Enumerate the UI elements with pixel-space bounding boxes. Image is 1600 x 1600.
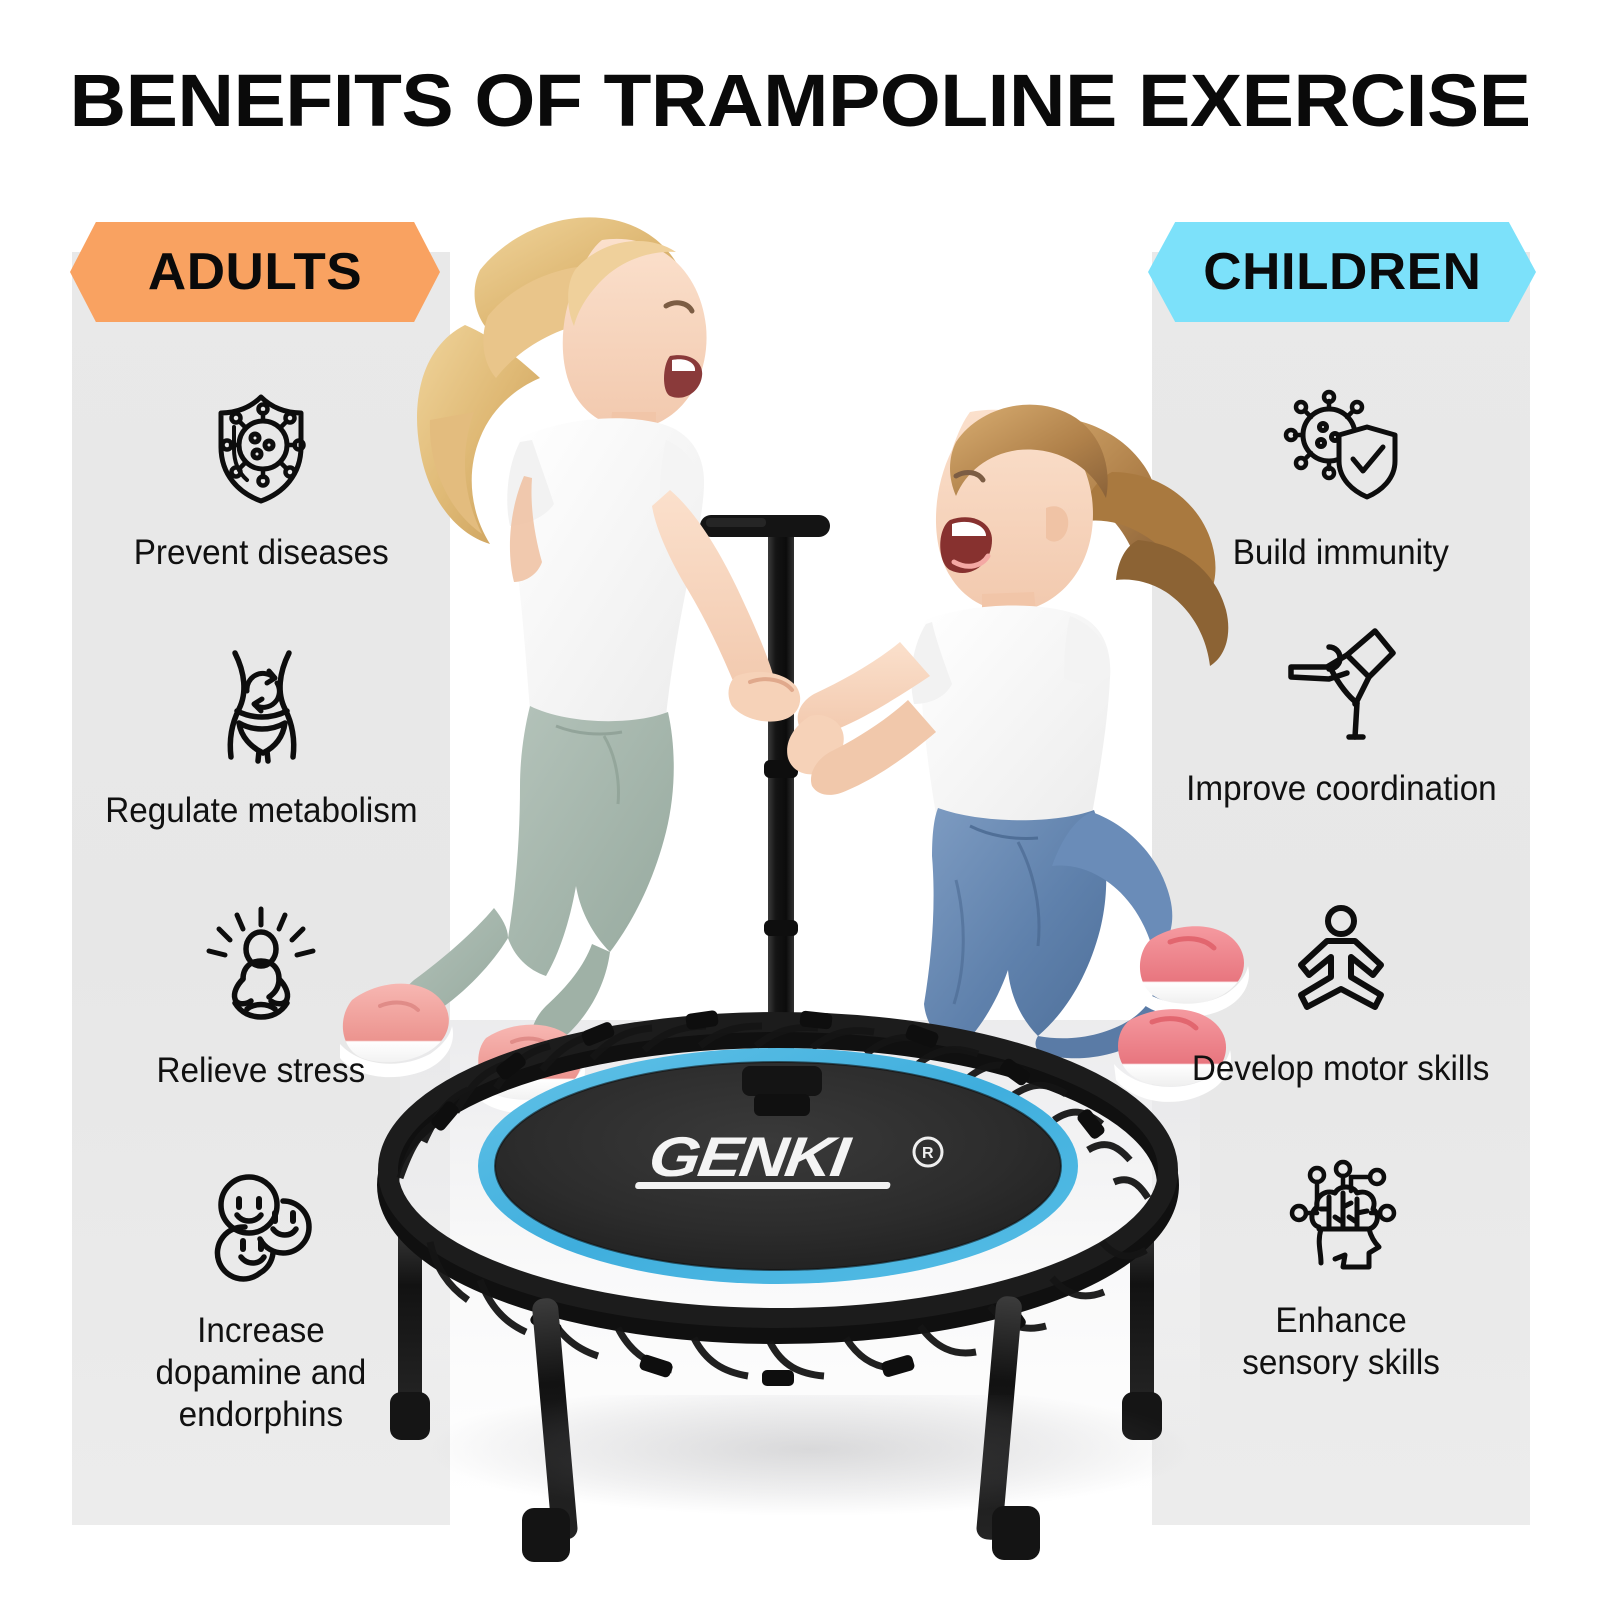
yoga-balance-icon [1266, 608, 1416, 758]
adults-banner: ADULTS [70, 222, 440, 322]
benefit-item-improve-coordination: Improve coordination [1152, 608, 1530, 810]
smiley-faces-icon [186, 1150, 336, 1300]
virus-shield-check-icon [1266, 372, 1416, 522]
svg-text:GENKI: GENKI [645, 1126, 856, 1189]
adults-banner-label: ADULTS [148, 242, 362, 302]
meditation-icon [186, 890, 336, 1040]
benefit-item-relieve-stress: Relieve stress [72, 890, 450, 1092]
benefit-label: Develop motor skills [1192, 1048, 1489, 1090]
benefit-item-build-immunity: Build immunity [1152, 372, 1530, 574]
infographic-canvas: BENEFITS OF TRAMPOLINE EXERCISE [0, 0, 1600, 1600]
benefit-item-increase-dopamine: Increase dopamine and endorphins [72, 1150, 450, 1436]
torso-recycle-icon [186, 630, 336, 780]
benefit-label: Build immunity [1233, 532, 1449, 574]
product-photo: GENKI R [370, 120, 1230, 1540]
benefit-item-develop-motor-skills: Develop motor skills [1152, 888, 1530, 1090]
brain-head-nodes-icon [1266, 1140, 1416, 1290]
svg-text:R: R [922, 1145, 934, 1162]
children-banner: CHILDREN [1148, 222, 1536, 322]
benefit-label: Regulate metabolism [105, 790, 417, 832]
children-banner-label: CHILDREN [1203, 242, 1481, 302]
shield-virus-icon [186, 372, 336, 522]
benefit-label: Improve coordination [1186, 768, 1497, 810]
benefit-label: Prevent diseases [133, 532, 388, 574]
benefit-item-regulate-metabolism: Regulate metabolism [72, 630, 450, 832]
benefit-label: Relieve stress [157, 1050, 366, 1092]
benefit-label: Enhance sensory skills [1242, 1300, 1440, 1384]
star-jump-figure-icon [1266, 888, 1416, 1038]
pole-mount [742, 1066, 822, 1116]
photo-illustration: GENKI R [370, 120, 1230, 1540]
benefit-label: Increase dopamine and endorphins [156, 1310, 367, 1436]
floor-shadow [430, 1395, 1190, 1515]
benefit-item-prevent-diseases: Prevent diseases [72, 372, 450, 574]
benefit-item-enhance-sensory-skills: Enhance sensory skills [1152, 1140, 1530, 1384]
